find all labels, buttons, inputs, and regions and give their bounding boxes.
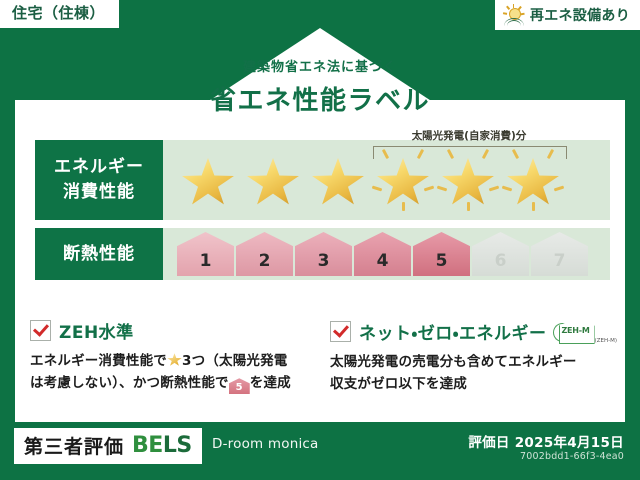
insulation-level-6-number: 6 [495, 251, 507, 271]
bels-badge: 第三者評価 BELS [14, 428, 202, 464]
criterion-net-zero: ネット・ゼロ・エネルギー ZEH-M (ZEH-M) 太陽光発電の売電分も含めて… [330, 318, 610, 396]
criterion-net-zero-header: ネット・ゼロ・エネルギー ZEH-M (ZEH-M) [330, 318, 610, 344]
house-badge-number: 5 [236, 382, 243, 393]
insulation-level-7: 7 [531, 232, 588, 276]
star-2 [242, 149, 304, 211]
star-4-solar [372, 149, 434, 211]
star-icon-inline [167, 353, 182, 367]
title-subtitle: 建築物省エネ法に基づく [0, 56, 640, 75]
zeh-m-logo-caption: (ZEH-M) [595, 338, 617, 344]
criterion-zeh-title: ZEH水準 [59, 318, 134, 343]
net-zero-text-line2: 収支がゼロ以下を達成 [330, 376, 467, 392]
evaluation-date: 評価日 2025年4月15日 [468, 431, 624, 451]
star-1 [177, 149, 239, 211]
insulation-level-1-number: 1 [200, 251, 212, 271]
evaluation-date-label: 評価日 [468, 435, 509, 451]
insulation-label: 断熱性能 [63, 242, 135, 267]
energy-performance-stars-area: 太陽光発電(自家消費)分 [163, 140, 610, 220]
insulation-level-scale: 1 2 3 4 5 [163, 232, 588, 276]
building-type-label: 住宅（住棟） [12, 4, 105, 22]
energy-performance-label: 住宅（住棟） 再エネ設備あり 建築物省エネ法に基づく 省エネ性能ラベル エネルギ… [0, 0, 640, 480]
star-3 [307, 149, 369, 211]
star-rating [163, 149, 564, 211]
footer: 第三者評価 BELS D-room monica 評価日 2025年4月15日 … [0, 422, 640, 480]
energy-label-line2: 消費性能 [63, 180, 135, 205]
rating-rows: エネルギー 消費性能 太陽光発電(自家消費)分 [35, 140, 610, 288]
solar-bracket-caption: 太陽光発電(自家消費)分 [373, 128, 565, 143]
insulation-level-4: 4 [354, 232, 411, 276]
zeh-text-part2: 3つ（太陽光発電 [182, 353, 288, 369]
checkmark-icon-zeh [30, 320, 51, 341]
energy-label-line1: エネルギー [54, 155, 144, 180]
insulation-level-1: 1 [177, 232, 234, 276]
criterion-net-zero-title: ネット・ゼロ・エネルギー [359, 319, 547, 344]
criterion-zeh-header: ZEH水準 [30, 318, 310, 343]
zeh-text-part4: を達成 [250, 375, 291, 391]
insulation-levels-area: 1 2 3 4 5 [163, 228, 610, 280]
insulation-performance-label-box: 断熱性能 [35, 228, 163, 280]
insulation-performance-row: 断熱性能 1 2 3 [35, 228, 610, 280]
energy-performance-label-box: エネルギー 消費性能 [35, 140, 163, 220]
zeh-m-logo-text: ZEH-M [560, 326, 592, 335]
insulation-level-5-achieved: 5 [413, 232, 470, 276]
renewable-equipment-label: 再エネ設備あり [530, 5, 630, 25]
insulation-level-2-number: 2 [259, 251, 271, 271]
house-badge-icon-inline: 5 [229, 378, 250, 394]
bels-logo-be: BE [132, 433, 163, 458]
building-type-badge: 住宅（住棟） [0, 0, 119, 28]
criterion-zeh: ZEH水準 エネルギー消費性能で3つ（太陽光発電 は考慮しない）、かつ断熱性能で… [30, 318, 310, 396]
insulation-level-7-number: 7 [554, 251, 566, 271]
insulation-level-2: 2 [236, 232, 293, 276]
insulation-level-4-number: 4 [377, 251, 389, 271]
criteria-section: ZEH水準 エネルギー消費性能で3つ（太陽光発電 は考慮しない）、かつ断熱性能で… [30, 318, 610, 396]
energy-performance-row: エネルギー 消費性能 太陽光発電(自家消費)分 [35, 140, 610, 220]
insulation-level-5-number: 5 [436, 251, 448, 271]
building-name: D-room monica [212, 436, 319, 452]
label-id: 7002bdd1-66f3-4ea0 [520, 451, 624, 462]
title-block: 建築物省エネ法に基づく 省エネ性能ラベル [0, 56, 640, 117]
bels-logo: BELS [132, 433, 192, 458]
net-zero-text-line1: 太陽光発電の売電分も含めてエネルギー [330, 354, 577, 370]
insulation-level-3: 3 [295, 232, 352, 276]
insulation-level-6: 6 [472, 232, 529, 276]
solar-sun-icon [503, 5, 525, 25]
criterion-zeh-body: エネルギー消費性能で3つ（太陽光発電 は考慮しない）、かつ断熱性能で5を達成 [30, 350, 310, 395]
renewable-equipment-badge: 再エネ設備あり [495, 0, 640, 30]
zeh-text-part3: は考慮しない）、かつ断熱性能で [30, 375, 229, 391]
third-party-evaluation-label: 第三者評価 [24, 432, 124, 459]
page-title: 省エネ性能ラベル [0, 80, 640, 117]
evaluation-date-value: 2025年4月15日 [515, 435, 624, 451]
criterion-net-zero-body: 太陽光発電の売電分も含めてエネルギー 収支がゼロ以下を達成 [330, 351, 610, 396]
bels-logo-ls: LS [163, 433, 192, 458]
zeh-m-logo-icon: ZEH-M (ZEH-M) [553, 318, 595, 344]
zeh-text-part1: エネルギー消費性能で [30, 353, 167, 369]
star-5-solar [437, 149, 499, 211]
star-6-solar [502, 149, 564, 211]
insulation-level-3-number: 3 [318, 251, 330, 271]
checkmark-icon-net-zero [330, 321, 351, 342]
